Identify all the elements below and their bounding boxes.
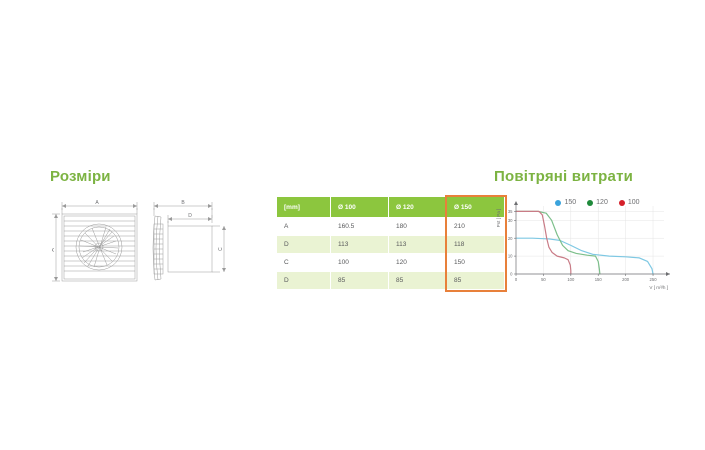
cell-d120: 113 bbox=[389, 236, 447, 254]
cell-d100: 85 bbox=[331, 272, 389, 290]
svg-text:10: 10 bbox=[508, 254, 513, 259]
table-header-d100: Ø 100 bbox=[331, 197, 389, 218]
airflow-title: Повітряні витрати bbox=[494, 168, 679, 185]
svg-text:Pst [ Pa ]: Pst [ Pa ] bbox=[496, 209, 501, 228]
dim-label-front-a-left: A bbox=[52, 248, 56, 252]
table-header-unit: [mm] bbox=[277, 197, 331, 218]
table-row: D 85 85 85 bbox=[277, 272, 505, 290]
dimensions-spec-table: [mm] Ø 100 Ø 120 Ø 150 A 160.5 180 210 D… bbox=[276, 196, 505, 290]
airflow-chart: 050100150200250010203035V [ m³/h ]Pst [ … bbox=[496, 200, 676, 290]
cell-d120: 120 bbox=[389, 254, 447, 272]
table-row: A 160.5 180 210 bbox=[277, 218, 505, 236]
cell-d100: 160.5 bbox=[331, 218, 389, 236]
row-label: C bbox=[277, 254, 331, 272]
table-header-row: [mm] Ø 100 Ø 120 Ø 150 bbox=[277, 197, 505, 218]
table-header-d120: Ø 120 bbox=[389, 197, 447, 218]
row-label: A bbox=[277, 218, 331, 236]
dim-label-side-c: C bbox=[218, 247, 224, 251]
cell-d100: 113 bbox=[331, 236, 389, 254]
svg-text:200: 200 bbox=[622, 277, 630, 282]
svg-text:0: 0 bbox=[510, 272, 513, 277]
svg-text:250: 250 bbox=[650, 277, 658, 282]
svg-text:150: 150 bbox=[595, 277, 603, 282]
svg-text:35: 35 bbox=[508, 209, 513, 214]
row-label: D bbox=[277, 272, 331, 290]
svg-text:0: 0 bbox=[515, 277, 518, 282]
table-row: D 113 113 118 bbox=[277, 236, 505, 254]
cell-d120: 85 bbox=[389, 272, 447, 290]
dim-label-side-b: B bbox=[181, 200, 185, 206]
svg-text:30: 30 bbox=[508, 218, 513, 223]
dimensions-title: Розміри bbox=[50, 168, 250, 185]
dimensions-section: Розміри bbox=[50, 168, 250, 199]
spec-table-container: [mm] Ø 100 Ø 120 Ø 150 A 160.5 180 210 D… bbox=[276, 196, 505, 290]
table-row: C 100 120 150 bbox=[277, 254, 505, 272]
svg-text:50: 50 bbox=[541, 277, 546, 282]
dimensions-technical-drawing: A A B D C bbox=[52, 196, 247, 288]
cell-d100: 100 bbox=[331, 254, 389, 272]
dim-label-front-a-top: A bbox=[95, 200, 99, 206]
row-label: D bbox=[277, 236, 331, 254]
cell-d120: 180 bbox=[389, 218, 447, 236]
airflow-chart-svg: 050100150200250010203035V [ m³/h ]Pst [ … bbox=[496, 200, 676, 290]
svg-text:20: 20 bbox=[508, 236, 513, 241]
svg-text:V [ m³/h ]: V [ m³/h ] bbox=[649, 285, 668, 290]
svg-text:100: 100 bbox=[567, 277, 575, 282]
dim-label-side-d: D bbox=[188, 213, 192, 219]
drawing-svg: A A B D C bbox=[52, 196, 247, 288]
